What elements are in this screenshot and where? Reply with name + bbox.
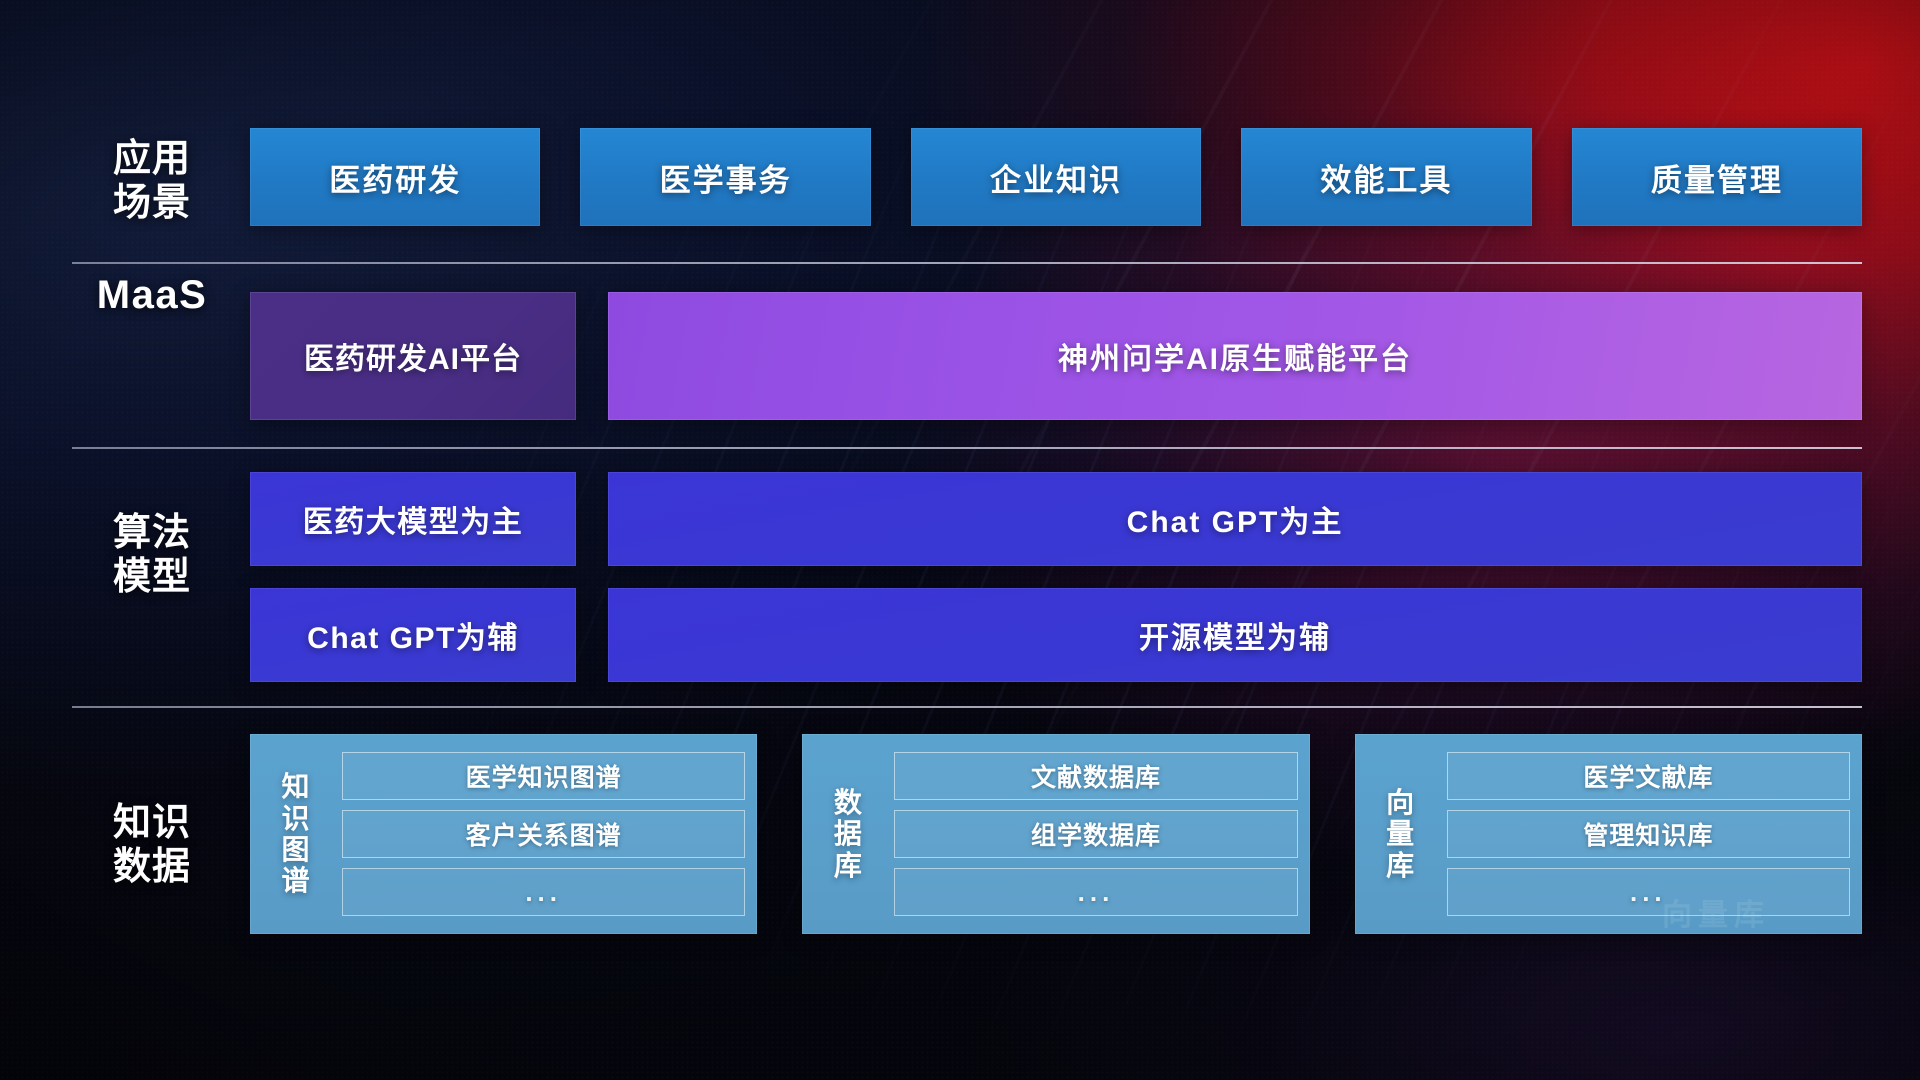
algo-card-primary-right[interactable]: Chat GPT为主 bbox=[608, 472, 1862, 566]
knowledge-item-2-3[interactable]: ... bbox=[894, 868, 1297, 916]
application-scenario-row: 医药研发 医学事务 企业知识 效能工具 质量管理 bbox=[250, 128, 1862, 226]
knowledge-item-3-2[interactable]: 管理知识库 bbox=[1447, 810, 1850, 858]
algo-label-primary-right: Chat GPT为主 bbox=[1127, 497, 1344, 541]
algorithm-model-row-primary: 医药大模型为主 Chat GPT为主 bbox=[250, 472, 1862, 566]
knowledge-group-title-2: 数 据 库 bbox=[802, 787, 894, 881]
app-scenario-label-2: 医学事务 bbox=[660, 155, 792, 200]
app-scenario-card-4[interactable]: 效能工具 bbox=[1241, 128, 1531, 226]
divider-3 bbox=[72, 706, 1862, 708]
row-label-application-scenario: 应用 场景 bbox=[72, 138, 232, 225]
knowledge-item-2-1[interactable]: 文献数据库 bbox=[894, 752, 1297, 800]
maas-row: 医药研发AI平台 神州问学AI原生赋能平台 bbox=[250, 292, 1862, 420]
algo-label-primary-left: 医药大模型为主 bbox=[303, 497, 524, 541]
knowledge-item-1-1[interactable]: 医学知识图谱 bbox=[342, 752, 745, 800]
row-label-algorithm-model: 算法 模型 bbox=[72, 512, 232, 599]
app-scenario-card-1[interactable]: 医药研发 bbox=[250, 128, 540, 226]
knowledge-group-items-2: 文献数据库 组学数据库 ... bbox=[894, 752, 1297, 916]
knowledge-group-vector-store[interactable]: 向 量 库 医学文献库 管理知识库 ... bbox=[1355, 734, 1862, 934]
algo-card-primary-left[interactable]: 医药大模型为主 bbox=[250, 472, 576, 566]
knowledge-data-row: 知 识 图 谱 医学知识图谱 客户关系图谱 ... 数 据 库 文献数据库 组学… bbox=[250, 734, 1862, 934]
knowledge-group-items-1: 医学知识图谱 客户关系图谱 ... bbox=[342, 752, 745, 916]
knowledge-item-1-3[interactable]: ... bbox=[342, 868, 745, 916]
row-label-maas: MaaS bbox=[72, 272, 232, 318]
slide-canvas: 应用 场景 医药研发 医学事务 企业知识 效能工具 质量管理 MaaS 医药研发… bbox=[0, 0, 1920, 1080]
app-scenario-card-3[interactable]: 企业知识 bbox=[911, 128, 1201, 226]
app-scenario-label-3: 企业知识 bbox=[990, 155, 1122, 200]
algorithm-model-row-secondary: Chat GPT为辅 开源模型为辅 bbox=[250, 588, 1862, 682]
app-scenario-card-5[interactable]: 质量管理 bbox=[1572, 128, 1862, 226]
maas-platform-card-left[interactable]: 医药研发AI平台 bbox=[250, 292, 576, 420]
divider-2 bbox=[72, 447, 1862, 449]
algo-card-secondary-right[interactable]: 开源模型为辅 bbox=[608, 588, 1862, 682]
divider-1 bbox=[72, 262, 1862, 264]
app-scenario-label-4: 效能工具 bbox=[1320, 155, 1452, 200]
app-scenario-label-5: 质量管理 bbox=[1651, 155, 1783, 200]
algo-label-secondary-left: Chat GPT为辅 bbox=[307, 613, 519, 657]
algo-card-secondary-left[interactable]: Chat GPT为辅 bbox=[250, 588, 576, 682]
maas-platform-label-right: 神州问学AI原生赋能平台 bbox=[1058, 334, 1412, 378]
knowledge-item-1-2[interactable]: 客户关系图谱 bbox=[342, 810, 745, 858]
knowledge-group-database[interactable]: 数 据 库 文献数据库 组学数据库 ... bbox=[802, 734, 1309, 934]
knowledge-group-title-3: 向 量 库 bbox=[1355, 787, 1447, 881]
app-scenario-card-2[interactable]: 医学事务 bbox=[580, 128, 870, 226]
row-label-knowledge-data: 知识 数据 bbox=[72, 802, 232, 889]
knowledge-group-items-3: 医学文献库 管理知识库 ... bbox=[1447, 752, 1850, 916]
algo-label-secondary-right: 开源模型为辅 bbox=[1139, 613, 1331, 657]
knowledge-group-title-1: 知 识 图 谱 bbox=[250, 771, 342, 896]
maas-platform-label-left: 医药研发AI平台 bbox=[304, 334, 522, 378]
maas-platform-card-right[interactable]: 神州问学AI原生赋能平台 bbox=[608, 292, 1862, 420]
knowledge-item-3-1[interactable]: 医学文献库 bbox=[1447, 752, 1850, 800]
app-scenario-label-1: 医药研发 bbox=[329, 155, 461, 200]
knowledge-item-2-2[interactable]: 组学数据库 bbox=[894, 810, 1297, 858]
knowledge-group-knowledge-graph[interactable]: 知 识 图 谱 医学知识图谱 客户关系图谱 ... bbox=[250, 734, 757, 934]
knowledge-item-3-3[interactable]: ... bbox=[1447, 868, 1850, 916]
